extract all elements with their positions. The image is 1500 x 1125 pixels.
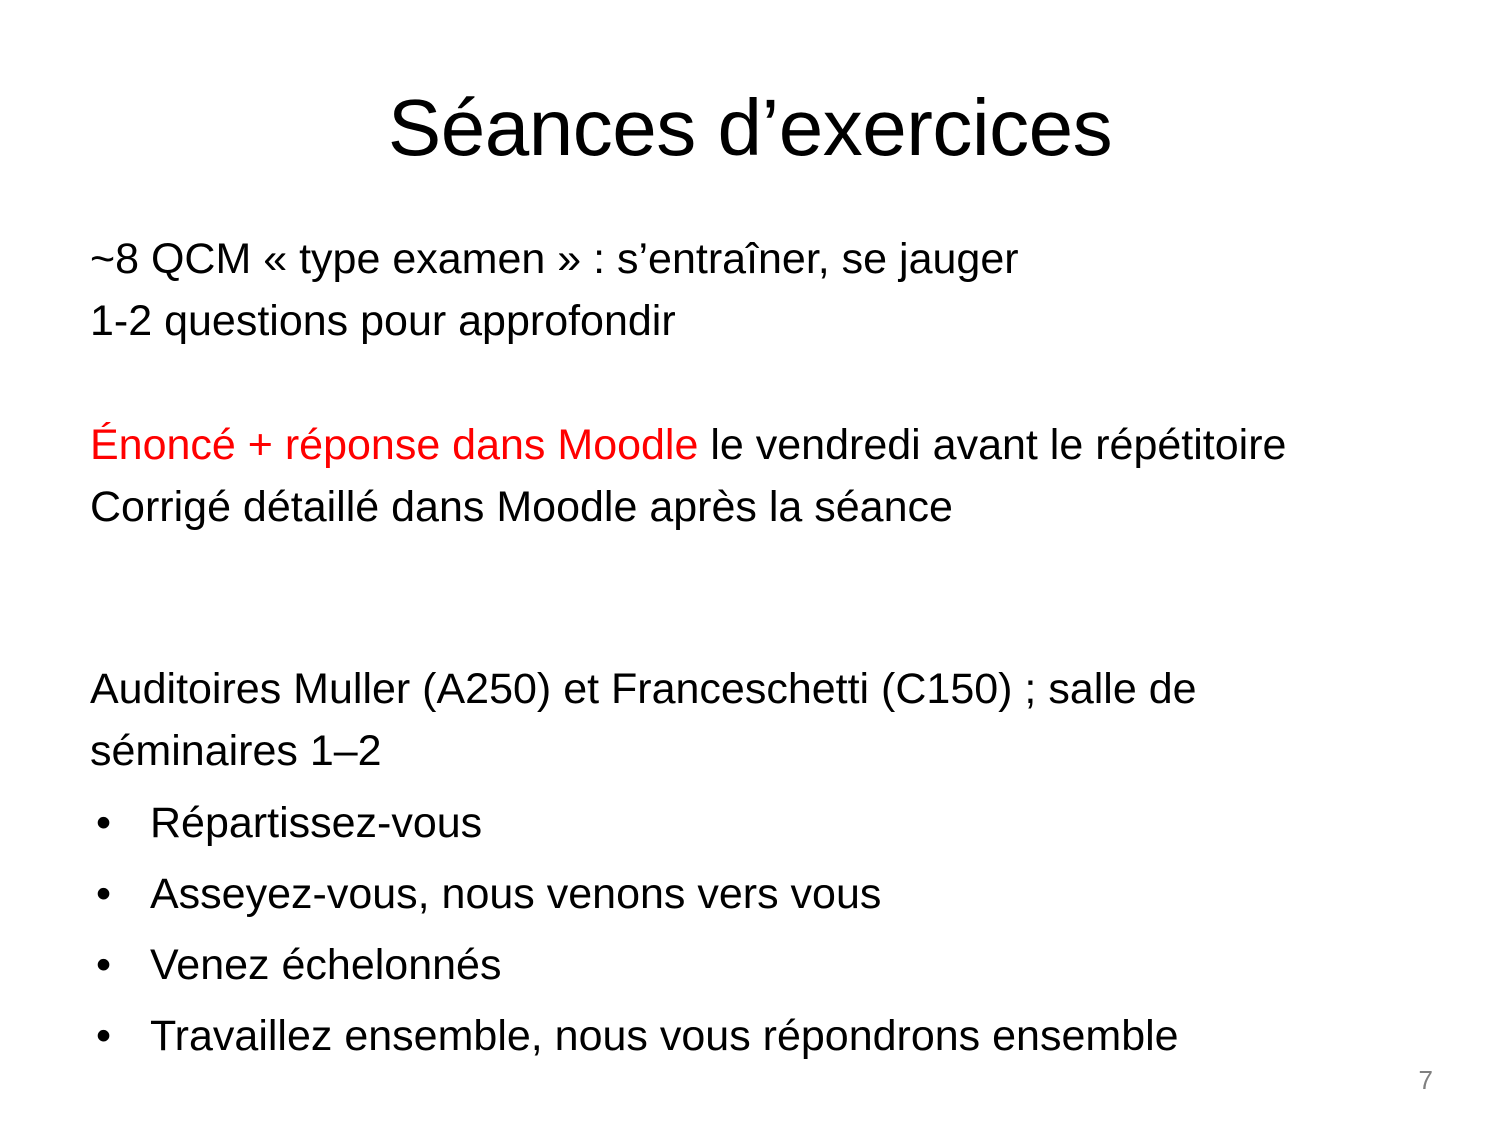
list-item: • Répartissez-vous <box>90 788 1420 859</box>
moodle-rest-text: le vendredi avant le répétitoire <box>698 421 1286 469</box>
list-item-label: Venez échelonnés <box>150 941 501 989</box>
list-item: • Travaillez ensemble, nous vous répondr… <box>90 1001 1420 1072</box>
list-item: • Venez échelonnés <box>90 930 1420 1001</box>
page-title: Séances d’exercices <box>0 88 1500 168</box>
slide: Séances d’exercices ~8 QCM « type examen… <box>0 0 1500 1125</box>
list-item: • Asseyez-vous, nous venons vers vous <box>90 859 1420 930</box>
paragraph-rooms-line2: séminaires 1–2 <box>90 720 1420 782</box>
slide-number: 7 <box>1419 1067 1433 1093</box>
paragraph-questions: 1-2 questions pour approfondir <box>90 290 1420 352</box>
paragraph-moodle-correction: Corrigé détaillé dans Moodle après la sé… <box>90 476 1420 538</box>
blank-line-1 <box>90 352 1420 414</box>
bullet-point-icon: • <box>96 859 111 930</box>
list-item-label: Travaillez ensemble, nous vous répondron… <box>150 1012 1179 1060</box>
list-item-label: Asseyez-vous, nous venons vers vous <box>150 870 881 918</box>
instructions-list: • Répartissez-vous • Asseyez-vous, nous … <box>90 788 1420 1072</box>
list-item-label: Répartissez-vous <box>150 799 482 847</box>
moodle-highlight-text: Énoncé + réponse dans Moodle <box>90 421 698 469</box>
paragraph-qcm: ~8 QCM « type examen » : s’entraîner, se… <box>90 228 1420 290</box>
bullet-point-icon: • <box>96 1001 111 1072</box>
bullet-point-icon: • <box>96 930 111 1001</box>
paragraph-moodle-deadline: Énoncé + réponse dans Moodle le vendredi… <box>90 414 1420 476</box>
paragraph-rooms-line1: Auditoires Muller (A250) et Franceschett… <box>90 658 1420 720</box>
slide-body: ~8 QCM « type examen » : s’entraîner, se… <box>90 228 1420 1072</box>
blank-line-3 <box>90 600 1420 658</box>
bullet-point-icon: • <box>96 788 111 859</box>
blank-line-2 <box>90 538 1420 600</box>
